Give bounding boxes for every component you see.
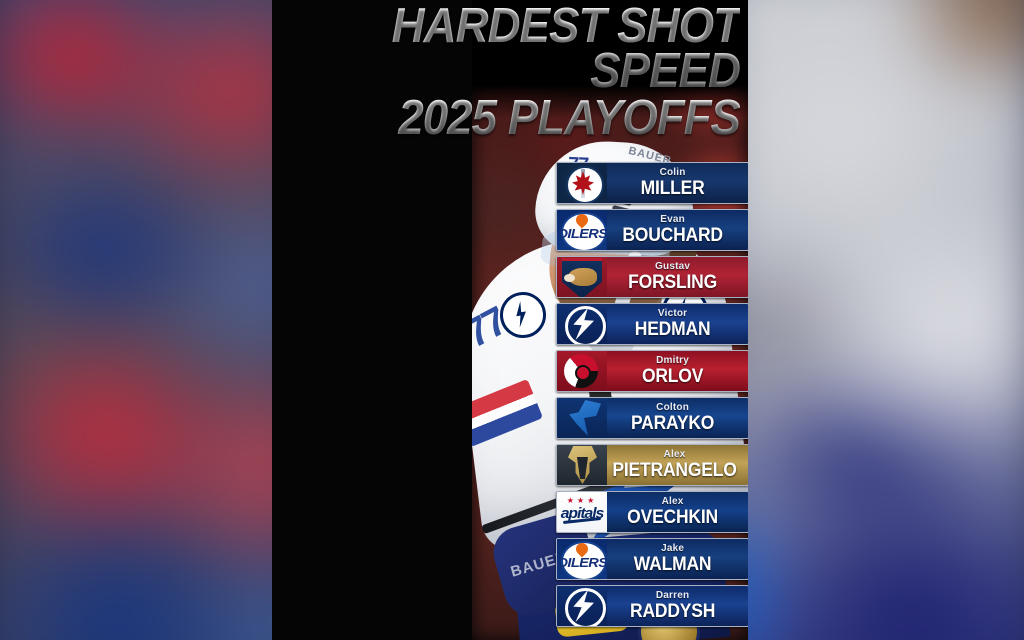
carolina-hurricanes-logo — [557, 351, 607, 391]
player-name: AlexOVECHKIN — [607, 497, 748, 527]
player-last-name: OVECHKIN — [612, 508, 733, 527]
team-logo — [557, 304, 607, 344]
player-bar[interactable]: OILERSEvanBOUCHARD — [556, 209, 748, 251]
player-bar[interactable]: ★★★apitalsAlexOVECHKIN — [556, 491, 748, 533]
ranking-table: ColinMILLER99.7OILERSEvanBOUCHARD99.6Gus… — [556, 162, 748, 632]
player-name: DarrenRADDYSH — [607, 591, 748, 621]
player-last-name: RADDYSH — [612, 602, 733, 621]
player-first-name: Victor — [607, 309, 738, 319]
team-logo — [557, 257, 607, 297]
player-name: AlexPIETRANGELO — [607, 450, 748, 480]
player-last-name: FORSLING — [612, 273, 733, 292]
tampa-bay-lightning-logo — [557, 304, 607, 344]
table-row[interactable]: ColtonPARAYKO97.6 — [556, 397, 748, 444]
table-row[interactable]: ColinMILLER99.7 — [556, 162, 748, 209]
team-logo — [557, 445, 607, 485]
player-name: VictorHEDMAN — [607, 309, 748, 339]
player-first-name: Colton — [607, 403, 738, 413]
player-last-name: PARAYKO — [612, 414, 733, 433]
team-logo — [557, 351, 607, 391]
player-bar[interactable]: ColinMILLER — [556, 162, 748, 204]
player-name: JakeWALMAN — [607, 544, 748, 574]
player-bar[interactable]: DmitryORLOV — [556, 350, 748, 392]
vegas-golden-knights-logo — [557, 445, 607, 485]
page-title: HARDEST SHOT SPEED 2025 PLAYOFFS — [272, 4, 748, 141]
florida-panthers-logo — [557, 257, 607, 297]
table-row[interactable]: GustavFORSLING99.3 — [556, 256, 748, 303]
edmonton-oilers-logo: OILERS — [557, 210, 607, 250]
player-last-name: HEDMAN — [612, 320, 733, 339]
st-louis-blues-logo — [557, 398, 607, 438]
team-logo: OILERS — [557, 539, 607, 579]
washington-capitals-logo: ★★★apitals — [557, 492, 607, 532]
oilers-wordmark: OILERS — [557, 226, 607, 241]
table-row[interactable]: OILERSEvanBOUCHARD99.6 — [556, 209, 748, 256]
team-logo: ★★★apitals — [557, 492, 607, 532]
background-right-blur — [702, 0, 1024, 640]
title-line-2: 2025 PLAYOFFS — [305, 96, 740, 141]
table-row[interactable]: VictorHEDMAN99.2 — [556, 303, 748, 350]
player-bar[interactable]: VictorHEDMAN — [556, 303, 748, 345]
table-row[interactable]: DmitryORLOV98.1 — [556, 350, 748, 397]
oilers-wordmark: OILERS — [557, 555, 607, 570]
player-first-name: Gustav — [607, 262, 738, 272]
player-name: GustavFORSLING — [607, 262, 748, 292]
graphic-panel: 77 A 77 BAUER BAUER — [272, 0, 748, 640]
player-first-name: Alex — [607, 497, 738, 507]
table-row[interactable]: AlexPIETRANGELO97.3 — [556, 444, 748, 491]
player-last-name: ORLOV — [612, 367, 733, 386]
player-bar[interactable]: ColtonPARAYKO — [556, 397, 748, 439]
player-bar[interactable]: AlexPIETRANGELO — [556, 444, 748, 486]
player-first-name: Colin — [607, 168, 738, 178]
title-line-1: HARDEST SHOT SPEED — [305, 4, 740, 94]
player-last-name: WALMAN — [612, 555, 733, 574]
table-row[interactable]: OILERSJakeWALMAN96.1 — [556, 538, 748, 585]
player-first-name: Dmitry — [607, 356, 738, 366]
player-first-name: Alex — [607, 450, 742, 460]
player-bar[interactable]: OILERSJakeWALMAN — [556, 538, 748, 580]
panther-head-icon — [568, 268, 597, 286]
capitals-stars: ★★★ — [565, 496, 599, 505]
player-first-name: Evan — [607, 215, 738, 225]
team-logo — [557, 398, 607, 438]
player-last-name: MILLER — [612, 179, 733, 198]
team-logo — [557, 163, 607, 203]
blue-note-icon — [567, 400, 601, 436]
table-row[interactable]: DarrenRADDYSH96.4 — [556, 585, 748, 632]
tampa-bay-lightning-logo — [557, 586, 607, 626]
player-bar[interactable]: DarrenRADDYSH — [556, 585, 748, 627]
table-row[interactable]: ★★★apitalsAlexOVECHKIN96.6 — [556, 491, 748, 538]
player-last-name: BOUCHARD — [612, 226, 733, 245]
player-name: ColinMILLER — [607, 168, 748, 198]
player-first-name: Jake — [607, 544, 738, 554]
team-logo — [557, 586, 607, 626]
player-bar[interactable]: GustavFORSLING — [556, 256, 748, 298]
winnipeg-jets-logo — [557, 163, 607, 203]
player-name: ColtonPARAYKO — [607, 403, 748, 433]
player-first-name: Darren — [607, 591, 738, 601]
hurricane-eye — [575, 365, 591, 381]
player-name: EvanBOUCHARD — [607, 215, 748, 245]
player-last-name: PIETRANGELO — [612, 461, 736, 480]
player-name: DmitryORLOV — [607, 356, 748, 386]
team-logo: OILERS — [557, 210, 607, 250]
edmonton-oilers-logo: OILERS — [557, 539, 607, 579]
